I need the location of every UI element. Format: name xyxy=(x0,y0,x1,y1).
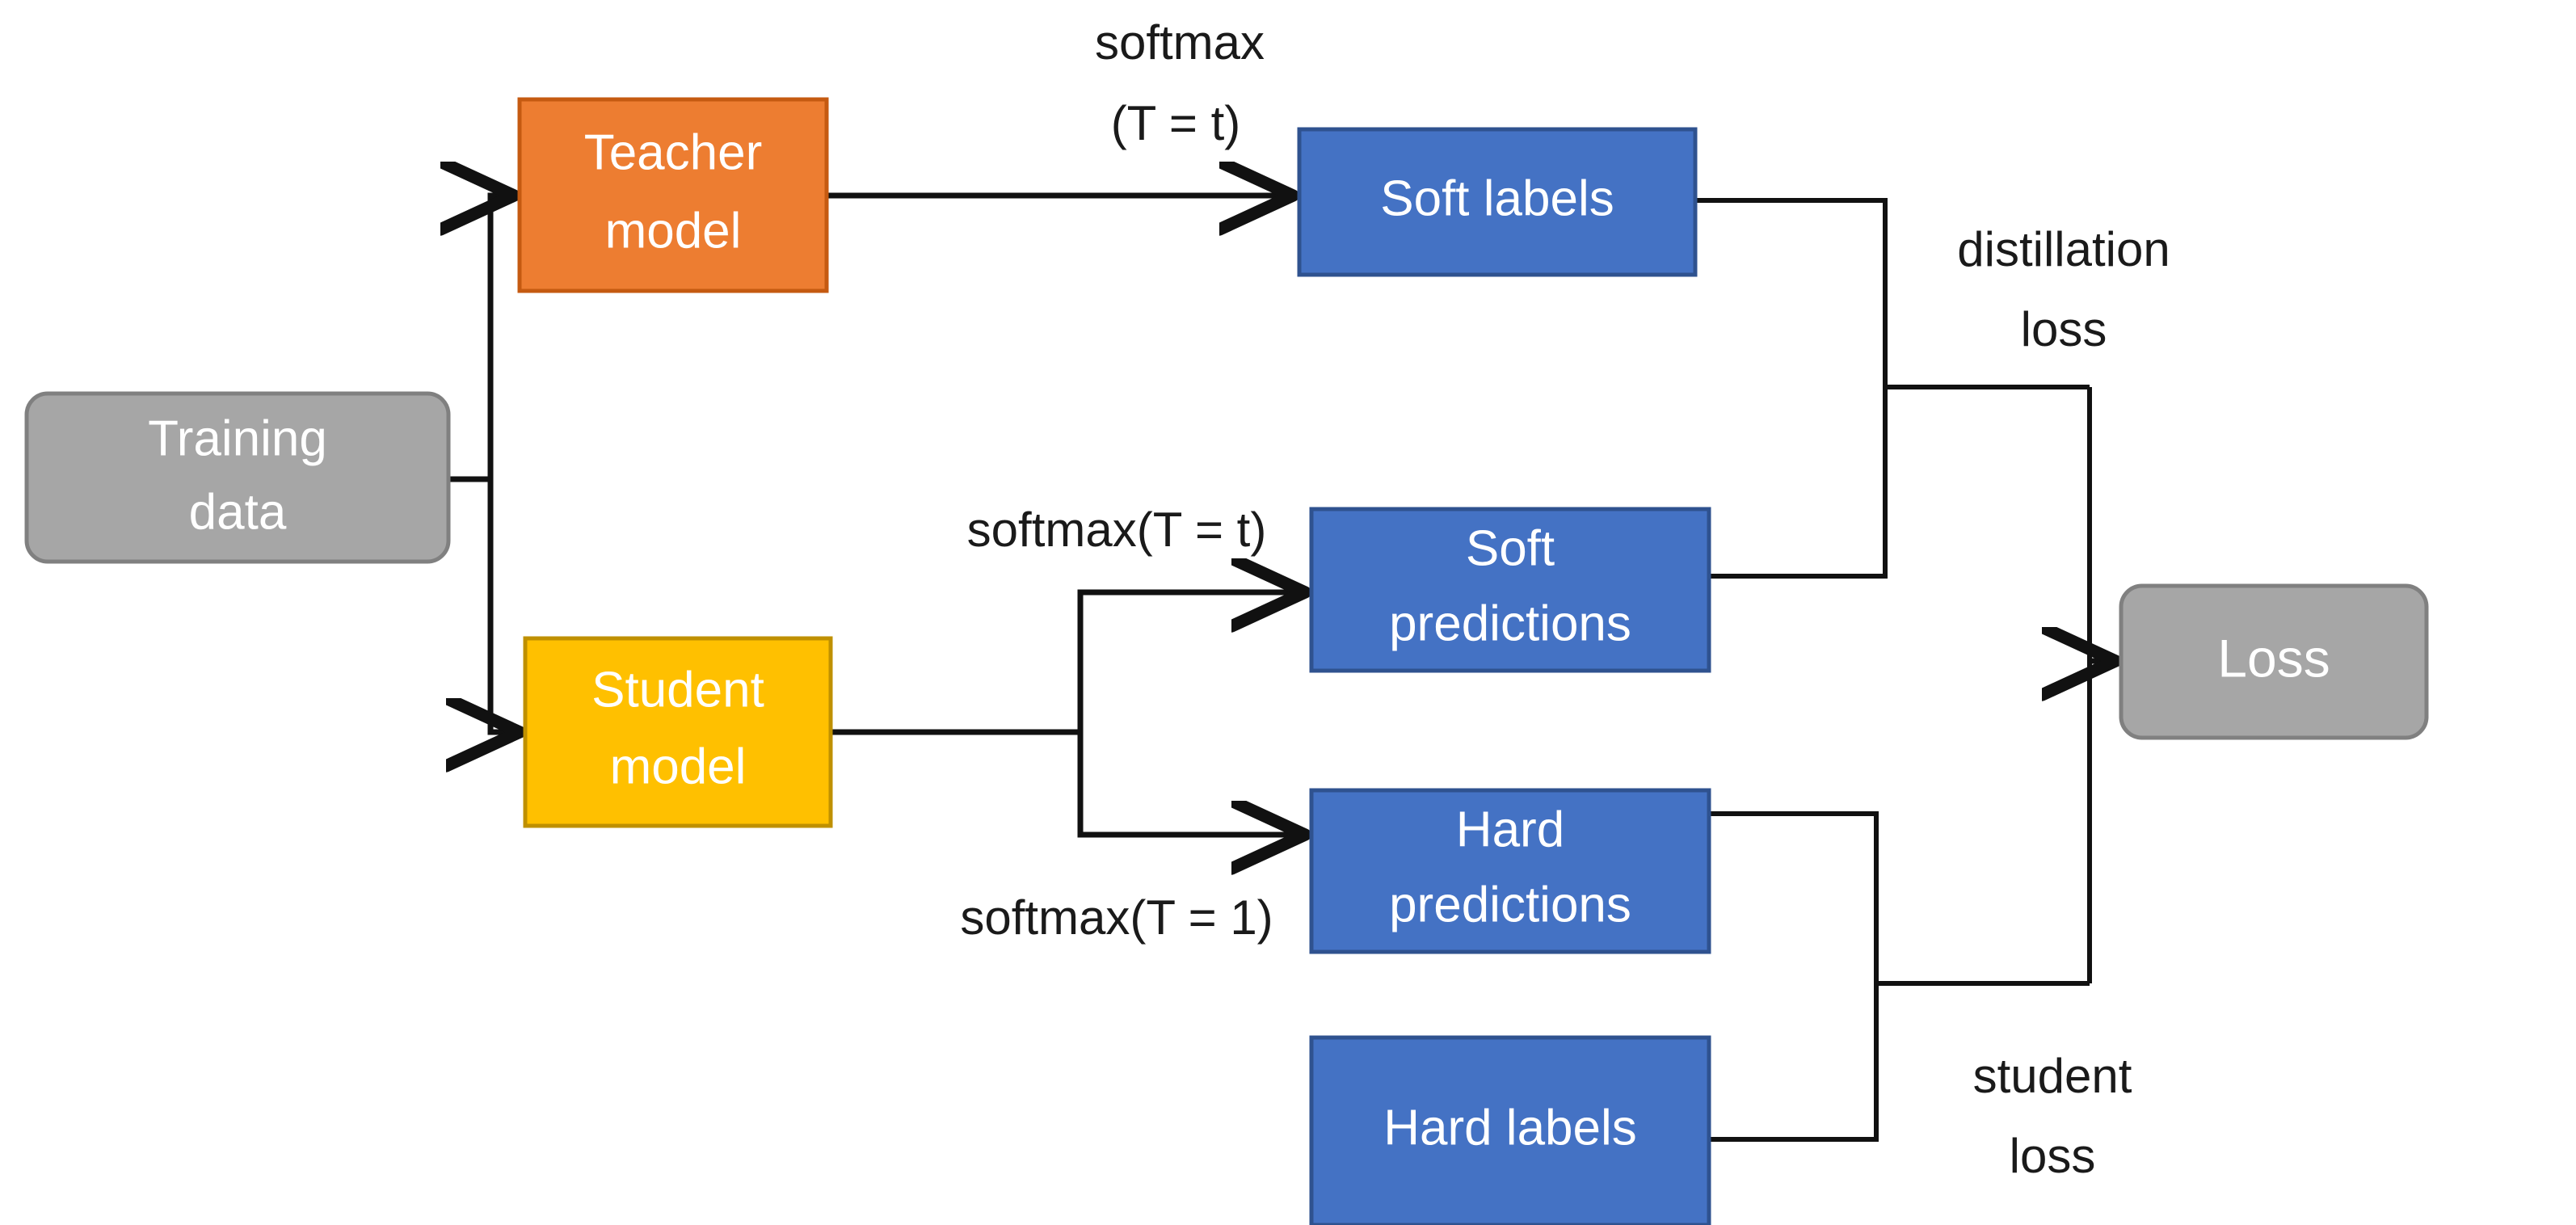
edge-hard-labels-to-student-loss xyxy=(1709,983,1876,1139)
edge-training-data-to-student xyxy=(490,479,520,732)
node-loss[interactable]: Loss xyxy=(2121,586,2427,738)
edge-label-teacher-softmax-line2: (T = t) xyxy=(1111,96,1241,150)
training-data-label-line2: data xyxy=(189,484,287,540)
node-soft-predictions[interactable]: Soft predictions xyxy=(1311,509,1709,671)
edge-soft-predictions-to-distillation xyxy=(1709,387,1885,576)
edge-label-teacher-softmax-line1: softmax xyxy=(1095,15,1265,69)
edge-training-data-to-teacher xyxy=(490,196,514,479)
node-hard-predictions[interactable]: Hard predictions xyxy=(1311,790,1709,952)
hard-predictions-label-line1: Hard xyxy=(1456,802,1564,857)
node-soft-labels[interactable]: Soft labels xyxy=(1299,129,1695,275)
teacher-model-label-line1: Teacher xyxy=(584,124,763,180)
teacher-model-label-line2: model xyxy=(605,203,742,259)
edge-label-student-loss-line1: student xyxy=(1973,1049,2132,1103)
student-model-label-line2: model xyxy=(610,739,747,794)
edge-label-distillation-loss-line2: loss xyxy=(2021,302,2107,356)
soft-labels-label: Soft labels xyxy=(1380,170,1614,226)
node-teacher-model[interactable]: Teacher model xyxy=(520,99,827,291)
edge-label-student-soft-softmax: softmax(T = t) xyxy=(967,503,1267,557)
edge-label-distillation-loss-line1: distillation xyxy=(1957,222,2170,276)
edge-label-student-loss-line2: loss xyxy=(2010,1129,2096,1183)
hard-labels-label: Hard labels xyxy=(1383,1100,1637,1156)
soft-predictions-label-line1: Soft xyxy=(1466,520,1555,576)
hard-predictions-label-line2: predictions xyxy=(1389,877,1631,932)
node-hard-labels[interactable]: Hard labels xyxy=(1311,1038,1709,1225)
student-model-label-line1: Student xyxy=(591,662,764,718)
soft-predictions-label-line2: predictions xyxy=(1389,596,1631,651)
edge-student-to-soft-predictions xyxy=(1080,592,1305,732)
edge-student-to-hard-predictions xyxy=(1080,732,1305,835)
node-training-data[interactable]: Training data xyxy=(27,394,448,562)
training-data-label-line1: Training xyxy=(148,410,327,466)
diagram-canvas: Training data Teacher model Student mode… xyxy=(0,0,2576,1225)
node-student-model[interactable]: Student model xyxy=(525,638,831,826)
edge-soft-labels-to-distillation xyxy=(1695,200,1885,387)
edge-hard-predictions-to-student-loss xyxy=(1709,814,1876,983)
knowledge-distillation-diagram: Training data Teacher model Student mode… xyxy=(0,0,2576,1225)
loss-label: Loss xyxy=(2217,628,2330,688)
edge-label-student-hard-softmax: softmax(T = 1) xyxy=(960,890,1273,945)
